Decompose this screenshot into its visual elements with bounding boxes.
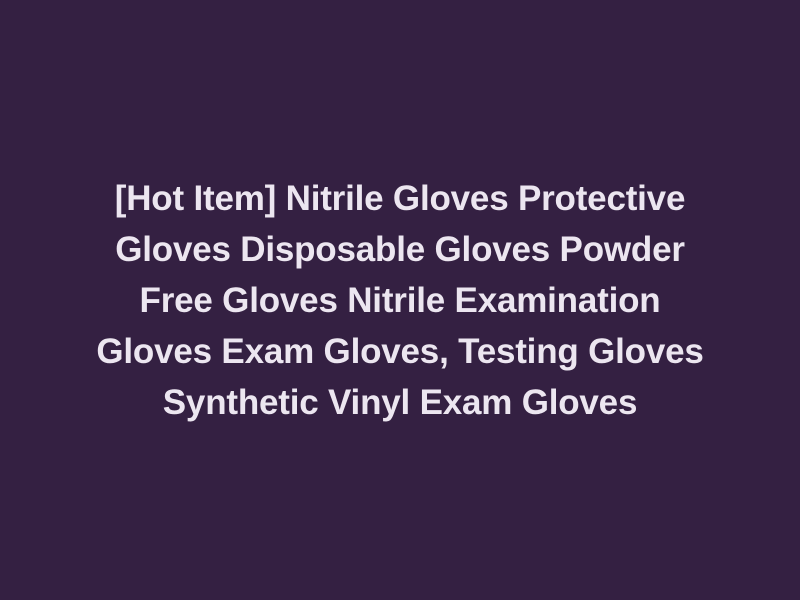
title-line-3: Free Gloves Nitrile Examination — [60, 275, 740, 326]
title-line-2: Gloves Disposable Gloves Powder — [60, 224, 740, 275]
product-title: [Hot Item] Nitrile Gloves Protective Glo… — [50, 173, 750, 428]
title-line-1: [Hot Item] Nitrile Gloves Protective — [60, 173, 740, 224]
title-line-4: Gloves Exam Gloves, Testing Gloves — [60, 326, 740, 377]
title-line-5: Synthetic Vinyl Exam Gloves — [60, 377, 740, 428]
title-card: [Hot Item] Nitrile Gloves Protective Glo… — [0, 0, 800, 600]
